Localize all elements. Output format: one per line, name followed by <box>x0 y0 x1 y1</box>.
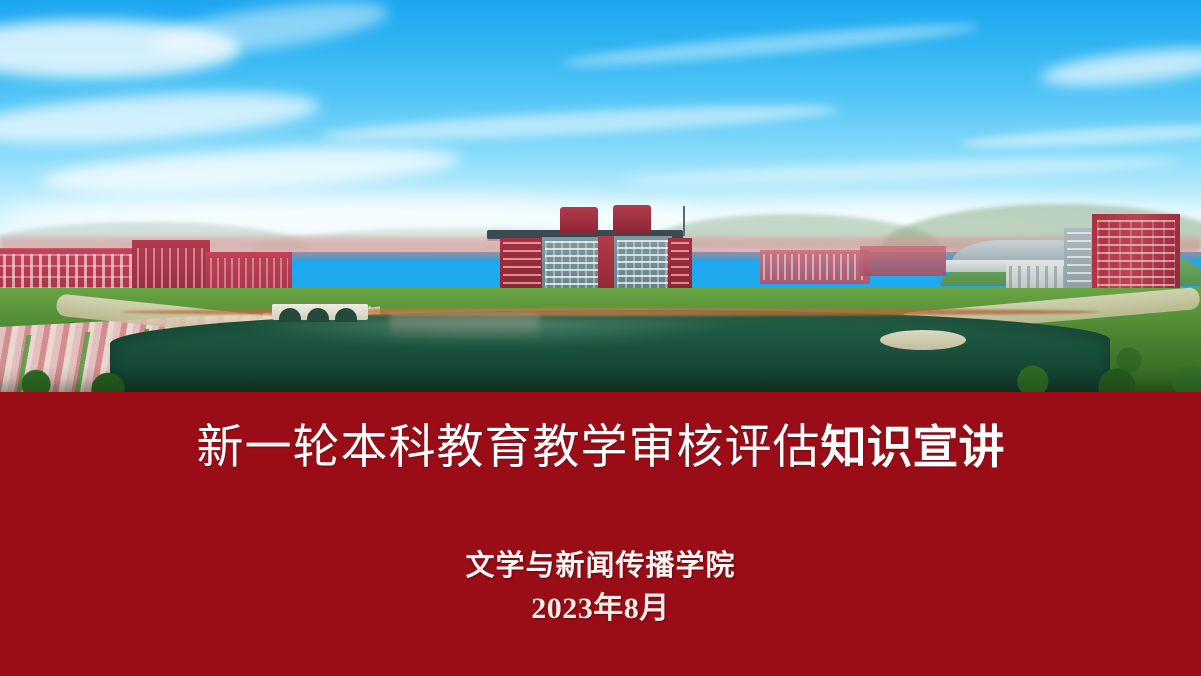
slide-title-emphasis: 知识宣讲 <box>821 421 1005 473</box>
photo-bottom-fade <box>0 366 1201 392</box>
presentation-cover-slide: 新一轮本科教育教学审核评估知识宣讲 文学与新闻传播学院 2023年8月 <box>0 0 1201 676</box>
midground-building <box>860 246 946 276</box>
rooftop-tower <box>613 205 651 233</box>
lakeside-sandbar <box>880 330 966 350</box>
slide-title: 新一轮本科教育教学审核评估知识宣讲 <box>0 416 1201 479</box>
building-reflection <box>390 314 540 340</box>
presentation-date: 2023年8月 <box>0 590 1201 628</box>
midground-building <box>760 250 870 284</box>
rooftop-tower <box>560 207 598 233</box>
organization-name: 文学与新闻传播学院 <box>0 548 1201 584</box>
lake-edge <box>120 308 1100 316</box>
slide-title-lead: 新一轮本科教育教学审核评估 <box>197 422 821 474</box>
campus-aerial-photograph <box>0 0 1201 392</box>
roof-antenna <box>683 206 685 236</box>
